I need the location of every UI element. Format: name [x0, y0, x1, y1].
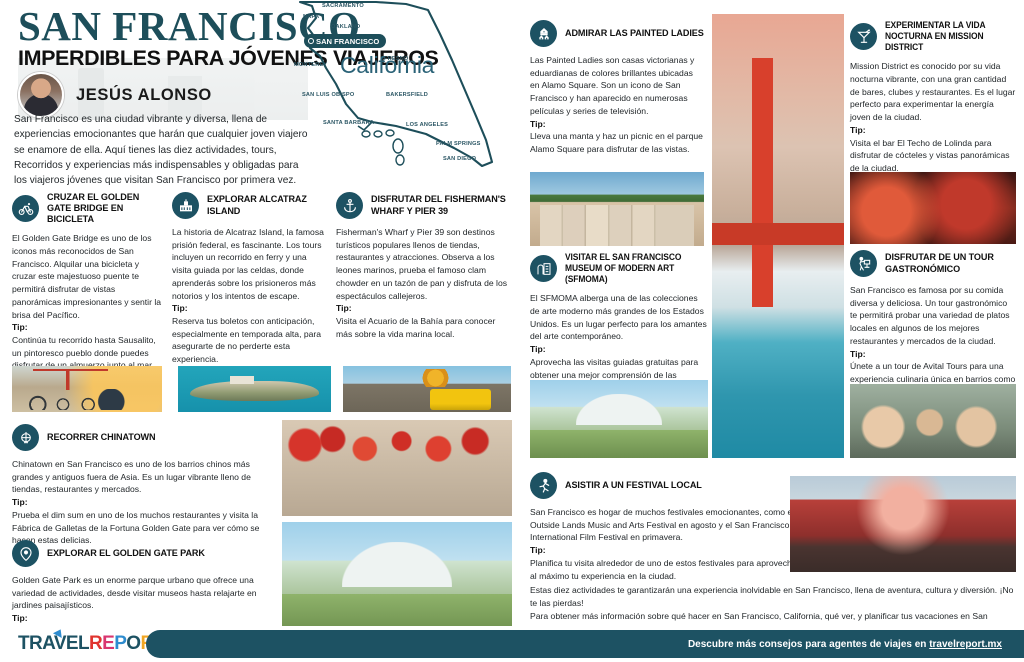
tip-label: Tip: — [12, 613, 28, 623]
card-body: Fisherman's Wharf y Pier 39 son destinos… — [336, 226, 512, 340]
map-pin-icon — [308, 38, 314, 44]
photo-painted-ladies — [530, 172, 704, 246]
photo-nightlife — [850, 172, 1016, 244]
card-body: San Francisco es famosa por su comida di… — [850, 284, 1016, 398]
card-title: DISFRUTAR DE UN TOUR GASTRONÓMICO — [885, 252, 1016, 274]
footer: TRAVELREPORT Descubre más consejos para … — [0, 626, 1024, 662]
card-golden-gate-park: EXPLORAR EL GOLDEN GATE PARK Golden Gate… — [12, 540, 276, 638]
intro-paragraph: San Francisco es una ciudad vibrante y d… — [14, 112, 314, 189]
city-label-sacramento: SACRAMENTO — [322, 3, 364, 9]
card-description: San Francisco es famosa por su comida di… — [850, 285, 1010, 346]
footer-cta-label: Descubre más consejos para agentes de vi… — [688, 639, 929, 650]
card-title: VISITAR EL SAN FRANCISCO MUSEUM OF MODER… — [565, 252, 698, 285]
card-nightlife: EXPERIMENTAR LA VIDA NOCTURNA EN MISSION… — [850, 20, 1016, 175]
card-title: EXPLORAR EL GOLDEN GATE PARK — [47, 548, 205, 559]
travelreport-link[interactable]: travelreport.mx — [929, 639, 1002, 650]
card-description: Las Painted Ladies son casas victorianas… — [530, 55, 694, 116]
card-tip: Planifica tu visita alrededor de uno de … — [530, 558, 799, 581]
photo-sfmoma-park — [530, 380, 708, 458]
photo-alcatraz-island — [178, 366, 331, 412]
tip-label: Tip: — [530, 119, 546, 129]
card-description: El SFMOMA alberga una de las colecciones… — [530, 293, 707, 341]
card-festival: ASISTIR A UN FESTIVAL LOCAL San Francisc… — [530, 472, 808, 582]
photo-music-festival — [790, 476, 1016, 572]
city-label-monterey: MONTEREY — [294, 62, 327, 68]
tip-label: Tip: — [530, 344, 546, 354]
photo-bikes-golden-gate — [12, 366, 162, 412]
infographic-page: SAN FRANCISCO IMPERDIBLES PARA JÓVENES V… — [0, 0, 1024, 662]
card-header: ASISTIR A UN FESTIVAL LOCAL — [530, 472, 808, 499]
tip-label: Tip: — [530, 545, 546, 555]
card-painted-ladies: ADMIRAR LAS PAINTED LADIES Las Painted L… — [530, 20, 704, 156]
card-header: RECORRER CHINATOWN — [12, 424, 276, 451]
card-header: DISFRUTAR DEL FISHERMAN'S WHARF Y PIER 3… — [336, 192, 512, 219]
tip-label: Tip: — [12, 497, 28, 507]
city-label-san-luis-obispo: SAN LUIS OBISPO — [302, 92, 354, 98]
card-header: EXPLORAR EL GOLDEN GATE PARK — [12, 540, 276, 567]
card-body: Mission District es conocido por su vida… — [850, 60, 1016, 174]
city-label-bakersfield: BAKERSFIELD — [386, 92, 428, 98]
card-title: EXPERIMENTAR LA VIDA NOCTURNA EN MISSION… — [885, 20, 1007, 53]
card-body: Chinatown en San Francisco es uno de los… — [12, 458, 276, 547]
chef-icon — [850, 250, 877, 277]
card-tip: Reserva tus boletos con anticipación, es… — [172, 316, 321, 364]
card-title: EXPLORAR ALCATRAZ ISLAND — [207, 194, 324, 216]
bicycle-icon — [12, 195, 39, 222]
california-map: California SAN FRANCISCO SACRAMENTO NAPA… — [286, 0, 522, 186]
card-tip: Lleva una manta y haz un picnic en el pa… — [530, 131, 703, 154]
tip-label: Tip: — [336, 303, 352, 313]
card-title: ASISTIR A UN FESTIVAL LOCAL — [565, 480, 702, 491]
card-title: CRUZAR EL GOLDEN GATE BRIDGE EN BICICLET… — [47, 192, 162, 225]
victorian-houses-icon — [530, 20, 557, 47]
tip-label: Tip: — [172, 303, 188, 313]
city-label-oakland: OAKLAND — [331, 24, 360, 30]
card-header: CRUZAR EL GOLDEN GATE BRIDGE EN BICICLET… — [12, 192, 162, 225]
card-sfmoma: VISITAR EL SAN FRANCISCO MUSEUM OF MODER… — [530, 252, 708, 394]
san-francisco-marker: SAN FRANCISCO — [304, 34, 386, 48]
tip-label: Tip: — [12, 322, 28, 332]
dancer-icon — [530, 472, 557, 499]
card-body: El SFMOMA alberga una de las colecciones… — [530, 292, 708, 394]
card-description: Chinatown en San Francisco es uno de los… — [12, 459, 251, 494]
tip-label: Tip: — [850, 349, 866, 359]
card-food-tour: DISFRUTAR DE UN TOUR GASTRONÓMICO San Fr… — [850, 250, 1016, 398]
anchor-icon — [336, 192, 363, 219]
cocktail-icon — [850, 23, 877, 50]
museum-art-icon — [530, 255, 557, 282]
card-body: El Golden Gate Bridge es uno de los icon… — [12, 232, 162, 385]
travel-report-logo: TRAVELREPORT — [18, 634, 165, 653]
card-description: Mission District es conocido por su vida… — [850, 61, 1015, 122]
photo-fishermans-wharf — [343, 366, 511, 412]
card-tip: Visita el bar El Techo de Lolinda para d… — [850, 138, 1010, 173]
city-label-santa-barbara: SANTA BARBARA — [323, 120, 374, 126]
photo-golden-gate-bridge — [712, 14, 844, 458]
card-golden-gate-bike: CRUZAR EL GOLDEN GATE BRIDGE EN BICICLET… — [12, 192, 162, 385]
card-body: Las Painted Ladies son casas victorianas… — [530, 54, 704, 156]
author-name: JESÚS ALONSO — [76, 86, 212, 105]
card-alcatraz: EXPLORAR ALCATRAZ ISLAND La historia de … — [172, 192, 324, 366]
card-title: RECORRER CHINATOWN — [47, 432, 156, 443]
card-description: Golden Gate Park es un enorme parque urb… — [12, 575, 257, 610]
card-body: La historia de Alcatraz Island, la famos… — [172, 226, 324, 366]
photo-golden-gate-park — [282, 522, 512, 634]
lantern-icon — [12, 424, 39, 451]
card-tip: Visita el Acuario de la Bahía para conoc… — [336, 316, 495, 339]
card-description: Fisherman's Wharf y Pier 39 son destinos… — [336, 227, 507, 301]
photo-food-tour — [850, 384, 1016, 458]
sf-marker-label: SAN FRANCISCO — [316, 37, 379, 46]
card-header: EXPLORAR ALCATRAZ ISLAND — [172, 192, 324, 219]
city-label-napa: NAPA — [303, 14, 319, 20]
card-description: San Francisco es hogar de muchos festiva… — [530, 507, 794, 542]
card-header: EXPERIMENTAR LA VIDA NOCTURNA EN MISSION… — [850, 20, 1016, 53]
card-header: VISITAR EL SAN FRANCISCO MUSEUM OF MODER… — [530, 252, 708, 285]
card-header: ADMIRAR LAS PAINTED LADIES — [530, 20, 704, 47]
city-label-palm-springs: PALM SPRINGS — [436, 141, 481, 147]
footer-cta-text: Descubre más consejos para agentes de vi… — [688, 639, 1002, 650]
logo-travel-text: TRAVEL — [18, 634, 89, 653]
prison-building-icon — [172, 192, 199, 219]
city-label-los-angeles: LOS ANGELES — [406, 122, 448, 128]
card-title: ADMIRAR LAS PAINTED LADIES — [565, 28, 704, 39]
closing-line-1: Estas diez actividades te garantizarán u… — [530, 585, 1013, 608]
photo-chinatown — [282, 420, 512, 516]
card-title: DISFRUTAR DEL FISHERMAN'S WHARF Y PIER 3… — [371, 194, 512, 216]
card-description: La historia de Alcatraz Island, la famos… — [172, 227, 324, 301]
card-chinatown: RECORRER CHINATOWN Chinatown en San Fran… — [12, 424, 276, 547]
city-label-san-diego: SAN DIEGO — [443, 156, 476, 162]
card-fishermans-wharf: DISFRUTAR DEL FISHERMAN'S WHARF Y PIER 3… — [336, 192, 512, 340]
card-header: DISFRUTAR DE UN TOUR GASTRONÓMICO — [850, 250, 1016, 277]
tree-pin-icon — [12, 540, 39, 567]
card-body: San Francisco es hogar de muchos festiva… — [530, 506, 808, 582]
footer-cta-bar: Descubre más consejos para agentes de vi… — [146, 630, 1024, 658]
card-description: El Golden Gate Bridge es uno de los icon… — [12, 233, 161, 319]
city-label-fresno: FRESNO — [384, 56, 409, 62]
tip-label: Tip: — [850, 125, 866, 135]
